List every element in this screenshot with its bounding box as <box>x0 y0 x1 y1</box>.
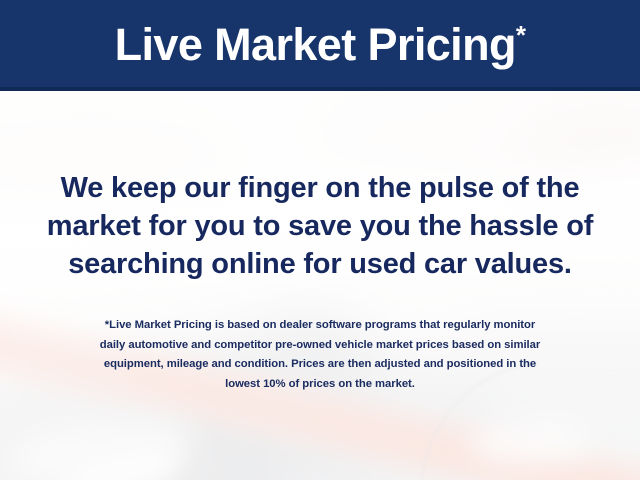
disclaimer-line-2: daily automotive and competitor pre-owne… <box>26 336 614 356</box>
disclaimer-line-3: equipment, mileage and condition. Prices… <box>26 355 614 375</box>
headline: We keep our finger on the pulse of the m… <box>0 169 640 283</box>
headline-line-3: searching online for used car values. <box>0 245 640 283</box>
headline-line-1: We keep our finger on the pulse of the <box>0 169 640 207</box>
page-title-text: Live Market Pricing <box>115 19 516 70</box>
disclaimer-line-1: *Live Market Pricing is based on dealer … <box>26 316 614 336</box>
disclaimer: *Live Market Pricing is based on dealer … <box>26 316 614 394</box>
disclaimer-line-4: lowest 10% of prices on the market. <box>26 375 614 395</box>
headline-line-2: market for you to save you the hassle of <box>0 207 640 245</box>
header-banner: Live Market Pricing* <box>0 0 640 91</box>
page-title-asterisk: * <box>516 20 526 50</box>
live-market-pricing-slide: Live Market Pricing* We keep our finger … <box>0 0 640 480</box>
page-title: Live Market Pricing* <box>115 22 526 67</box>
slide-content: We keep our finger on the pulse of the m… <box>0 91 640 480</box>
